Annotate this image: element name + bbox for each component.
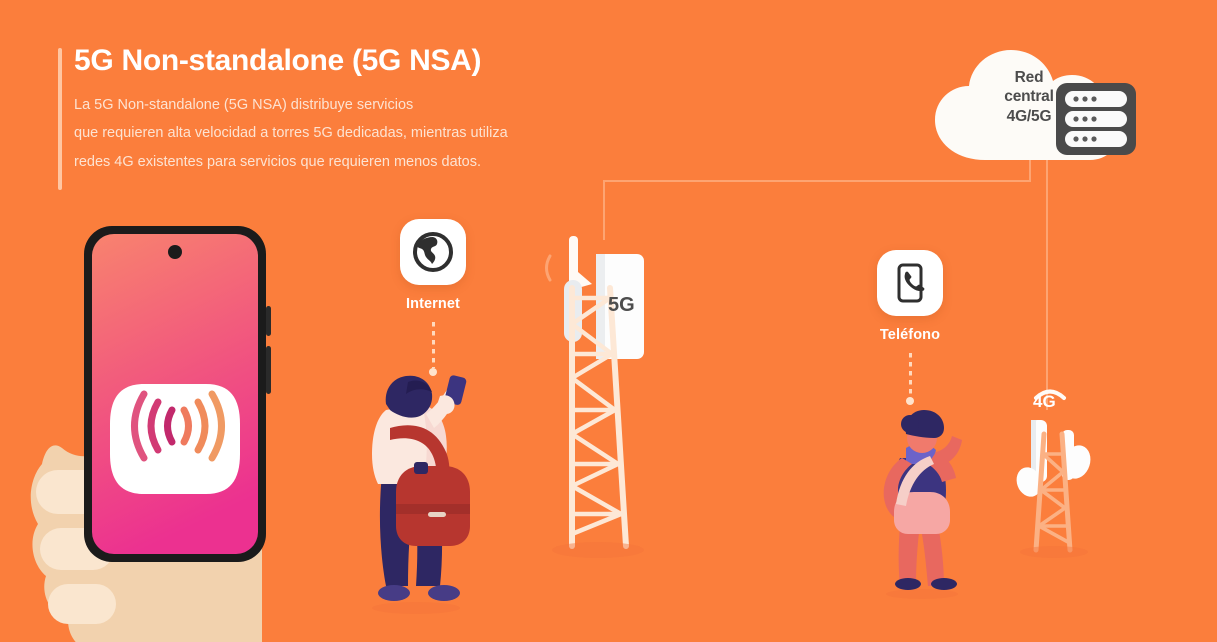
connector-cloud-to-4g [1046,152,1048,410]
handheld-phone-illustration [22,214,312,642]
service-telefono[interactable]: Teléfono [877,250,943,405]
tower-label-4g: 4G [1033,392,1056,412]
service-internet[interactable]: Internet [400,219,466,376]
link-dotted-telefono [909,353,912,397]
connector-cloud-to-5g-horizontal [603,180,1031,182]
person-walking-with-phone [352,362,482,614]
page-description: La 5G Non-standalone (5G NSA) distribuye… [58,77,678,176]
service-label-telefono: Teléfono [877,327,943,343]
telefono-tile[interactable] [877,250,943,316]
globe-icon [412,231,454,273]
phone-handset-icon [889,262,931,304]
header-block: 5G Non-standalone (5G NSA) La 5G Non-sta… [58,44,678,176]
tower-4g [1004,374,1114,559]
service-label-internet: Internet [400,296,466,312]
tower-5g [536,228,676,558]
infographic-canvas: 5G Non-standalone (5G NSA) La 5G Non-sta… [0,0,1217,642]
server-rack-icon [1055,82,1137,156]
accent-bar [58,48,62,190]
internet-tile[interactable] [400,219,466,285]
tower-label-5g: 5G [608,294,635,317]
person-on-call [866,404,976,600]
core-network-cloud: Red central 4G/5G [925,42,1155,177]
page-title: 5G Non-standalone (5G NSA) [58,44,678,77]
